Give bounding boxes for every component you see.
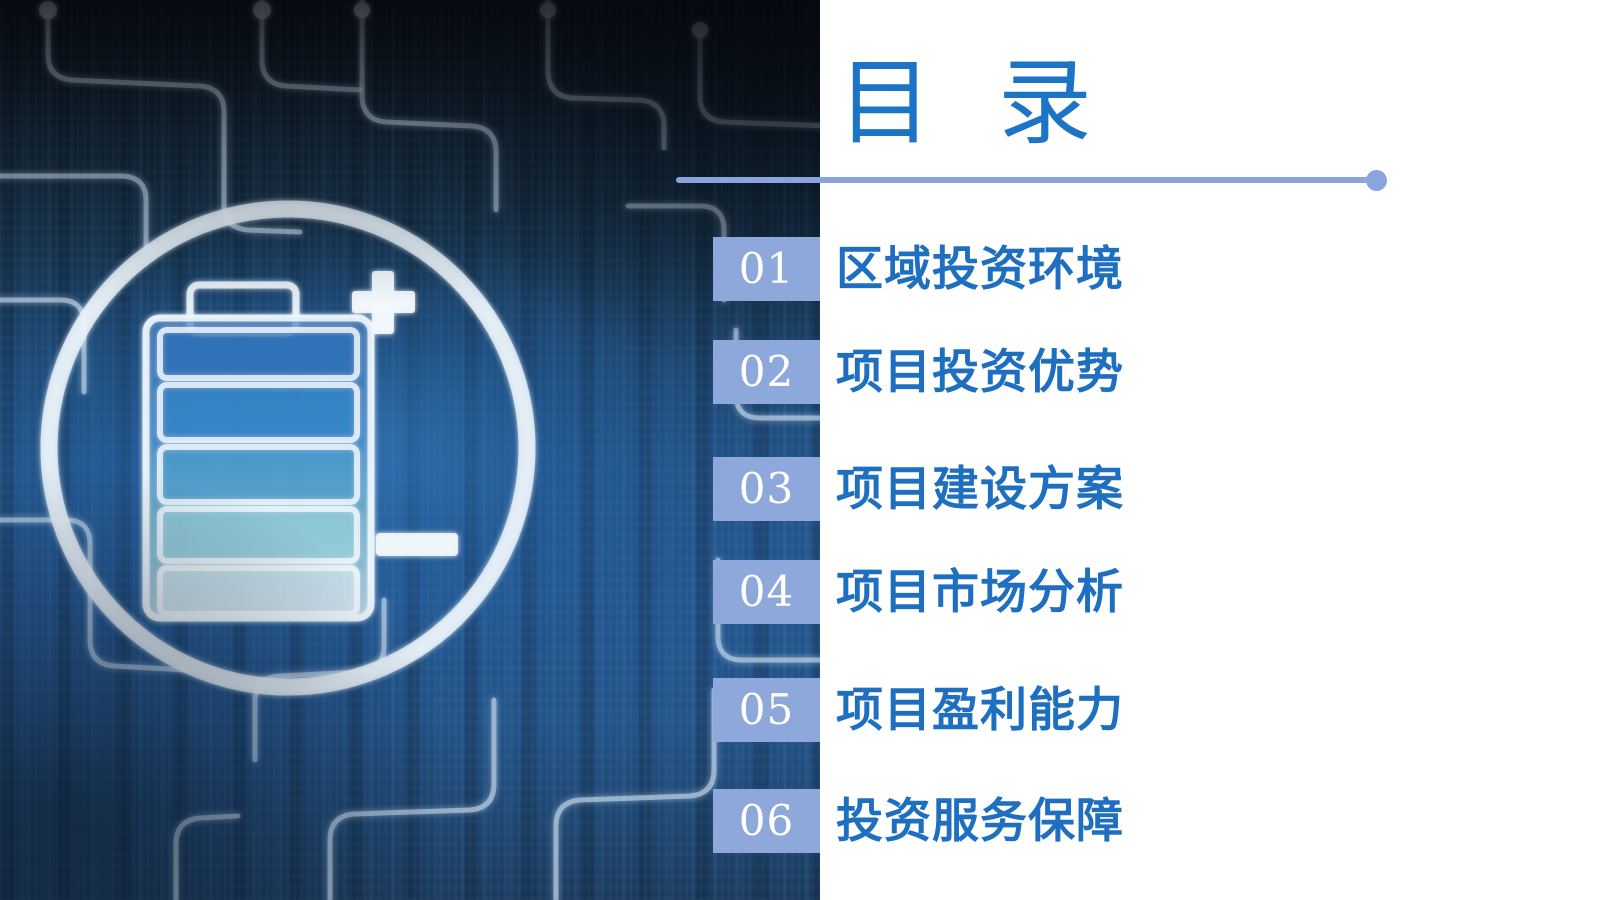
toc-item-label: 投资服务保障	[836, 798, 1124, 845]
toc-item-04[interactable]: 04 项目市场分析	[713, 560, 1124, 624]
toc-number-badge: 03	[713, 457, 820, 521]
presentation-slide: 目 录 01 区域投资环境 02 项目投资优势 03 项目建设方案 04 项目市…	[0, 0, 1600, 900]
toc-item-label: 项目投资优势	[836, 349, 1124, 396]
toc-item-label: 项目市场分析	[836, 569, 1124, 616]
toc-item-label: 项目盈利能力	[836, 687, 1124, 734]
table-of-contents: 01 区域投资环境 02 项目投资优势 03 项目建设方案 04 项目市场分析 …	[0, 0, 1600, 900]
toc-item-02[interactable]: 02 项目投资优势	[713, 340, 1124, 404]
toc-number-badge: 04	[713, 560, 820, 624]
toc-item-01[interactable]: 01 区域投资环境	[713, 237, 1124, 301]
toc-item-03[interactable]: 03 项目建设方案	[713, 457, 1124, 521]
toc-item-label: 项目建设方案	[836, 466, 1124, 513]
slide-content: 目 录 01 区域投资环境 02 项目投资优势 03 项目建设方案 04 项目市…	[0, 0, 1600, 900]
toc-item-label: 区域投资环境	[836, 246, 1124, 293]
toc-number-badge: 01	[713, 237, 820, 301]
toc-number-badge: 06	[713, 789, 820, 853]
toc-number-badge: 02	[713, 340, 820, 404]
toc-item-06[interactable]: 06 投资服务保障	[713, 789, 1124, 853]
toc-number-badge: 05	[713, 678, 820, 742]
toc-item-05[interactable]: 05 项目盈利能力	[713, 678, 1124, 742]
